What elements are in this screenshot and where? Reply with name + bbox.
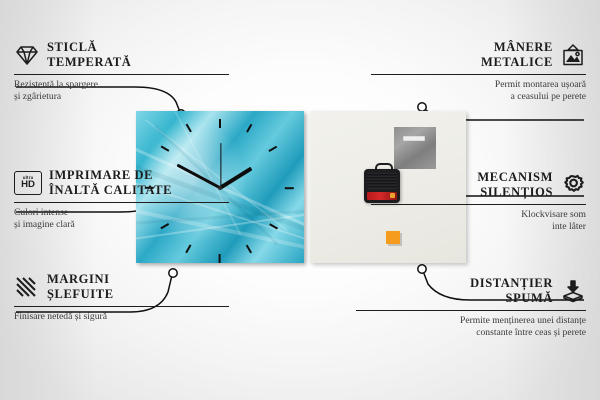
ultra-hd-icon: ultra HD: [14, 171, 42, 195]
title-underline: [14, 306, 229, 307]
feature-subtitle: Permite menținerea unei distanțe constan…: [356, 315, 586, 340]
hour-tick: [246, 124, 252, 133]
hour-tick: [161, 146, 170, 152]
connector-dot-foam-spacer: [418, 265, 426, 273]
wall-hanger-icon: [560, 43, 586, 67]
hour-tick: [219, 119, 221, 128]
feature-subtitle: Finisare netedă și sigură: [14, 311, 229, 323]
hour-tick: [246, 245, 252, 254]
feature-title: STICLĂ TEMPERATĂ: [47, 40, 131, 70]
feature-title: IMPRIMARE DE ÎNALTĂ CALITATE: [49, 168, 172, 198]
feature-high-quality-print: ultra HD IMPRIMARE DE ÎNALTĂ CALITATE Cu…: [14, 168, 229, 231]
feature-subtitle: Klockvisare som inte låter: [371, 209, 586, 234]
title-underline: [14, 202, 229, 203]
hour-tick: [285, 187, 294, 189]
feature-title: MARGINI ȘLEFUITE: [47, 272, 114, 302]
feature-silent-mechanism: MECANISM SILENȚIOS Klockvisare som inte …: [371, 170, 586, 233]
feature-polished-edges: MARGINI ȘLEFUITE Finisare netedă și sigu…: [14, 272, 229, 323]
feature-subtitle: Permit montarea ușoară a ceasului pe per…: [371, 79, 586, 104]
feature-subtitle: Rezistentă la spargere și zgârietura: [14, 79, 229, 104]
beveled-edge-icon: [14, 275, 40, 299]
title-underline: [14, 74, 229, 75]
gear-icon: [560, 173, 586, 197]
metal-hanger-plate: [394, 127, 436, 169]
feature-metal-handles: MÂNERE METALICE Permit montarea ușoară a…: [371, 40, 586, 103]
feature-foam-spacer: DISTANȚIER SPUMĂ Permite menținerea unei…: [356, 276, 586, 339]
title-underline: [371, 204, 586, 205]
hour-tick: [186, 245, 192, 254]
infographic-canvas: STICLĂ TEMPERATĂ Rezistentă la spargere …: [0, 0, 600, 400]
hour-tick: [268, 146, 277, 152]
feature-tempered-glass: STICLĂ TEMPERATĂ Rezistentă la spargere …: [14, 40, 229, 103]
feature-title: MECANISM SILENȚIOS: [477, 170, 553, 200]
hour-tick: [219, 254, 221, 263]
connector-dot-metal-handles: [418, 103, 426, 111]
diamond-icon: [14, 43, 40, 67]
feature-subtitle: Culori intense și imagine clară: [14, 207, 229, 232]
title-underline: [371, 74, 586, 75]
hanger-slot: [403, 136, 425, 141]
feature-title: MÂNERE METALICE: [481, 40, 553, 70]
title-underline: [356, 310, 586, 311]
feature-title: DISTANȚIER SPUMĂ: [470, 276, 553, 306]
foam-spacer-icon: [560, 279, 586, 303]
